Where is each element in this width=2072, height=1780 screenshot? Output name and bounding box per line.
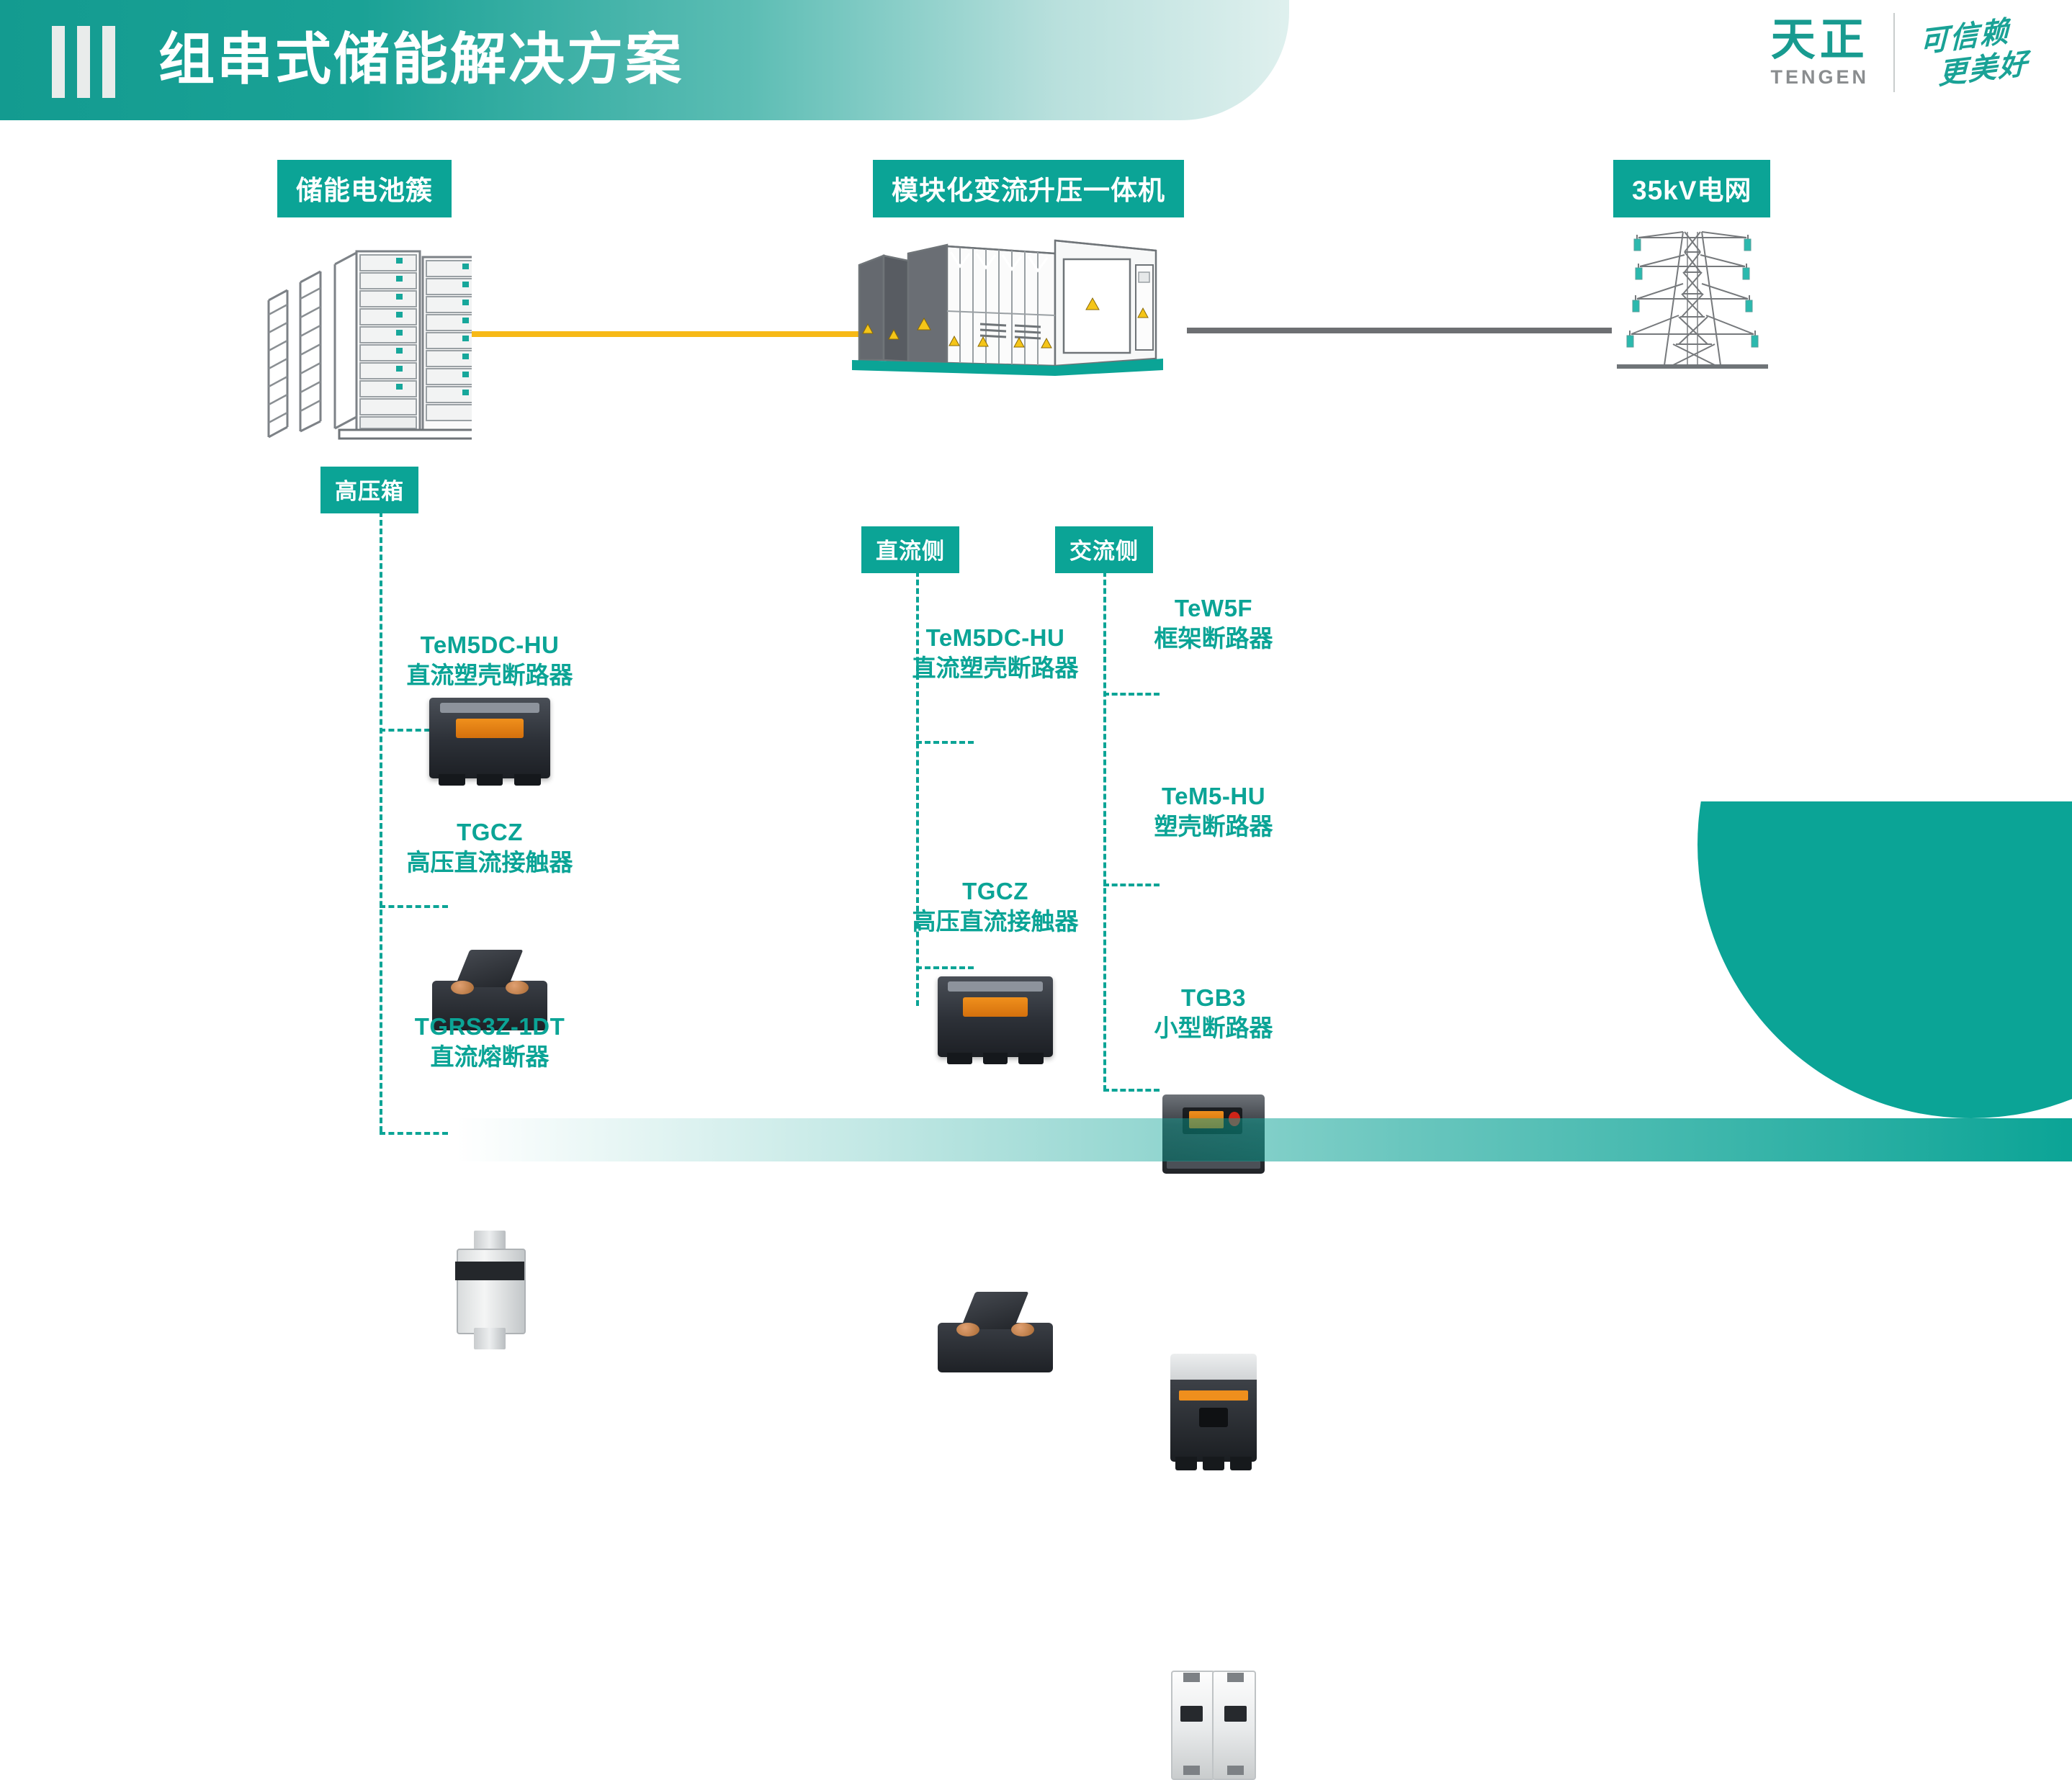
connector-ac-branch-3 [1103, 1089, 1160, 1092]
connector-ac-branch-2 [1103, 884, 1160, 886]
section-chip-converter: 模块化变流升压一体机 [873, 160, 1184, 217]
logo-slogan: 可信赖 更美好 [1919, 19, 2029, 86]
sublabel-chip-ac-side: 交流侧 [1055, 526, 1153, 573]
sublabel-chip-hv-box: 高压箱 [320, 467, 418, 513]
dc-bus-line [472, 331, 875, 337]
ac-bus-line [1187, 328, 1612, 333]
product-photo-tgcz-dc [938, 1292, 1053, 1372]
logo-brand-en: TENGEN [1770, 66, 1869, 89]
page-header: 组串式储能解决方案 [0, 0, 1289, 120]
sublabel-chip-dc-side: 直流侧 [861, 526, 959, 573]
product-label-hv-1: TeM5DC-HU 直流塑壳断路器 [407, 630, 573, 691]
product-photo-tem5-hu [1170, 1354, 1257, 1462]
connector-ac-side-trunk [1103, 571, 1106, 1091]
header-bars-icon [52, 26, 115, 98]
section-chip-battery: 储能电池簇 [277, 160, 452, 217]
connector-dc-branch-2 [916, 966, 974, 969]
product-label-ac-3: TGB3 小型断路器 [1154, 983, 1273, 1043]
product-label-dc-1: TeM5DC-HU 直流塑壳断路器 [912, 623, 1079, 683]
product-photo-tgrs3z-1dt [450, 1231, 529, 1349]
transmission-tower-illustration [1602, 217, 1782, 383]
footer-swoosh-decoration [1669, 801, 2072, 1161]
battery-rack-illustration [256, 221, 472, 459]
product-label-ac-1: TeW5F 框架断路器 [1154, 593, 1273, 654]
connector-hv-branch-2 [380, 905, 448, 908]
product-label-hv-3: TGRS3Z-1DT 直流熔断器 [415, 1012, 565, 1072]
product-photo-tem5dc-hu-hv [429, 698, 550, 778]
product-photo-tgb3 [1171, 1671, 1256, 1777]
logo-mark: 天正 TENGEN [1770, 17, 1869, 89]
connector-ac-branch-1 [1103, 693, 1160, 696]
page-title: 组串式储能解决方案 [158, 16, 683, 102]
connector-hv-box-trunk [380, 511, 382, 1132]
section-chip-grid: 35kV电网 [1613, 160, 1770, 217]
converter-container-illustration [839, 232, 1170, 376]
product-label-ac-2: TeM5-HU 塑壳断路器 [1154, 781, 1273, 842]
brand-logo: 天正 TENGEN 可信赖 更美好 [1770, 13, 2029, 92]
logo-divider [1893, 13, 1895, 92]
logo-brand-cn: 天正 [1771, 17, 1869, 64]
product-photo-tem5dc-hu-dc [938, 976, 1053, 1057]
connector-dc-branch-1 [916, 741, 974, 744]
product-label-hv-2: TGCZ 高压直流接触器 [407, 817, 573, 878]
product-label-dc-2: TGCZ 高压直流接触器 [912, 876, 1079, 937]
